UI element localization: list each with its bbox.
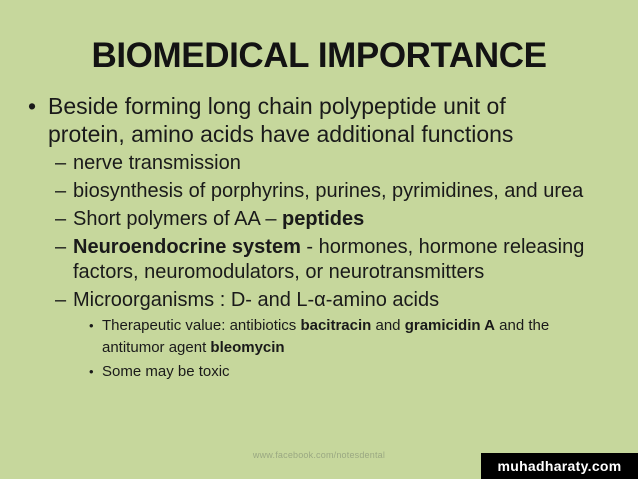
emphasis-text: bleomycin (210, 339, 284, 356)
bullet-small-disc-icon: • (89, 361, 94, 383)
bullet-dash-icon: – (55, 179, 66, 204)
bullet-dash-icon: – (55, 235, 66, 260)
bullet-level1-text: Beside forming long chain polypeptide un… (48, 93, 513, 147)
bullet-level2-text: Short polymers of AA – peptides (73, 208, 364, 230)
bullet-dash-icon: – (55, 207, 66, 232)
bullet-level3: •Therapeutic value: antibiotics bacitrac… (0, 315, 638, 359)
bullet-level2-text: Microorganisms : D- and L-α-amino acids (73, 289, 439, 311)
brand-banner: muhadharaty.com (481, 453, 638, 479)
bullet-level2: –Neuroendocrine system - hormones, hormo… (0, 235, 638, 285)
plain-text: nerve transmission (73, 152, 241, 174)
bullet-level2-text: nerve transmission (73, 152, 241, 174)
plain-text: Some may be toxic (102, 363, 230, 380)
plain-text: Short polymers of AA – (73, 208, 282, 230)
emphasis-text: bacitracin (300, 317, 371, 334)
bullet-level1: • Beside forming long chain polypeptide … (0, 92, 638, 148)
bullet-level2: –Microorganisms : D- and L-α-amino acids (0, 288, 638, 313)
bullet-level2-text: biosynthesis of porphyrins, purines, pyr… (73, 180, 583, 202)
bullet-level2: –Short polymers of AA – peptides (0, 207, 638, 232)
plain-text: Therapeutic value: antibiotics (102, 317, 300, 334)
emphasis-text: gramicidin A (405, 317, 495, 334)
plain-text: and (371, 317, 404, 334)
plain-text: biosynthesis of porphyrins, purines, pyr… (73, 180, 583, 202)
bullet-level2-list: –nerve transmission–biosynthesis of porp… (0, 151, 638, 313)
bullet-small-disc-icon: • (89, 315, 94, 337)
slide-title: BIOMEDICAL IMPORTANCE (0, 34, 638, 78)
slide-body: • Beside forming long chain polypeptide … (0, 92, 638, 383)
bullet-level2: –biosynthesis of porphyrins, purines, py… (0, 179, 638, 204)
bullet-level3-text: Some may be toxic (102, 363, 230, 380)
presentation-slide: BIOMEDICAL IMPORTANCE • Beside forming l… (0, 0, 638, 479)
bullet-disc-icon: • (28, 92, 36, 120)
bullet-level3: •Some may be toxic (0, 361, 638, 383)
bullet-level2-text: Neuroendocrine system - hormones, hormon… (73, 236, 584, 283)
plain-text: Microorganisms : D- and L-α-amino acids (73, 289, 439, 311)
bullet-level3-list: •Therapeutic value: antibiotics bacitrac… (0, 315, 638, 383)
emphasis-text: Neuroendocrine system (73, 236, 301, 258)
bullet-dash-icon: – (55, 151, 66, 176)
bullet-level2: –nerve transmission (0, 151, 638, 176)
emphasis-text: peptides (282, 208, 364, 230)
bullet-dash-icon: – (55, 288, 66, 313)
bullet-level3-text: Therapeutic value: antibiotics bacitraci… (102, 317, 549, 356)
